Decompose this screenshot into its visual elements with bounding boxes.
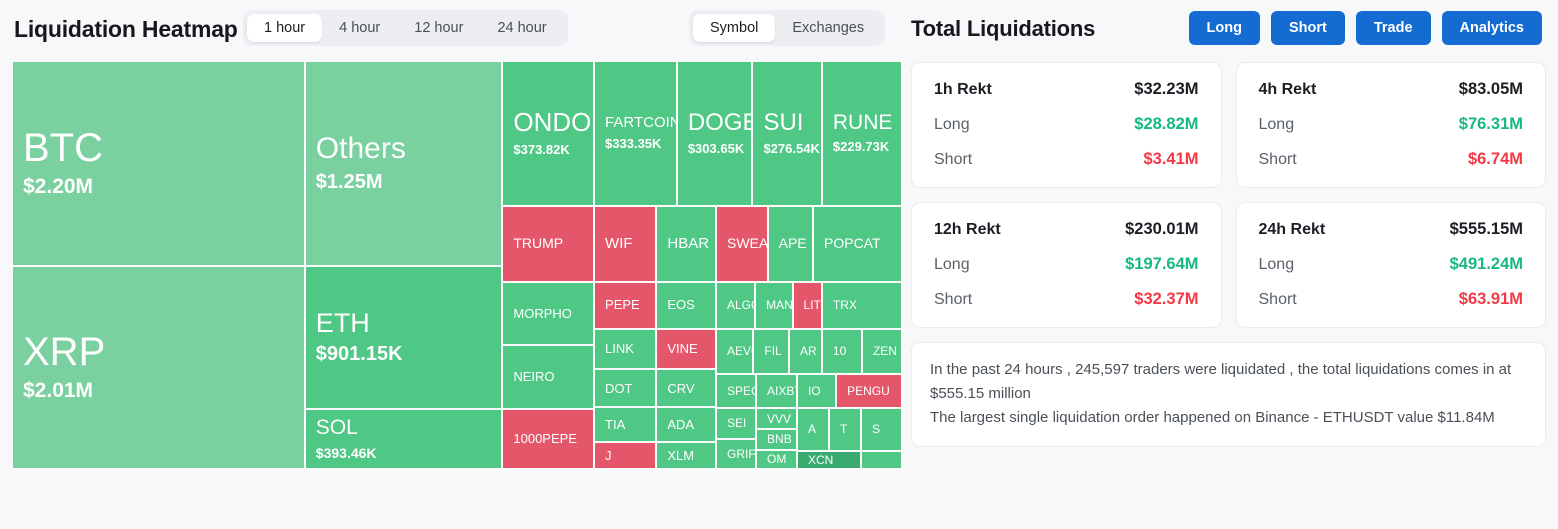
- treemap-tile-fil[interactable]: FIL: [754, 330, 790, 376]
- trade-button[interactable]: Trade: [1356, 11, 1431, 45]
- treemap-tile-bnb[interactable]: BNB: [757, 430, 798, 450]
- rekt-period-label: 12h Rekt: [934, 221, 1001, 239]
- timeframe-option-4-hour[interactable]: 4 hour: [322, 14, 397, 42]
- treemap-tile-ape[interactable]: APE: [769, 207, 814, 283]
- treemap-tile-aixbt[interactable]: AIXBT: [757, 375, 798, 409]
- rekt-long-row: Long$28.82M: [934, 115, 1199, 134]
- treemap-tile-symbol: LIT: [804, 299, 811, 312]
- treemap-tile-symbol: VINE: [667, 342, 705, 356]
- rekt-stat-card: 24h Rekt$555.15MLong$491.24MShort$63.91M: [1236, 202, 1547, 328]
- long-button[interactable]: Long: [1189, 11, 1260, 45]
- treemap-tile-s[interactable]: S: [862, 409, 903, 452]
- treemap-tile-sui[interactable]: SUI$276.54K: [753, 62, 822, 207]
- rekt-long-label: Long: [934, 116, 970, 134]
- rekt-long-value: $197.64M: [1125, 255, 1198, 274]
- treemap-tile-trump[interactable]: TRUMP: [503, 207, 595, 283]
- treemap-tile-symbol: SOL: [316, 417, 492, 439]
- rekt-total-row: 12h Rekt$230.01M: [934, 220, 1199, 239]
- rekt-short-row: Short$63.91M: [1259, 290, 1524, 309]
- treemap-tile-symbol: SWEAT: [727, 236, 757, 251]
- treemap-tile-fartcoin[interactable]: FARTCOIN$333.35K: [595, 62, 678, 207]
- treemap-tile-symbol: VVV: [767, 413, 786, 426]
- rekt-period-label: 4h Rekt: [1259, 81, 1317, 99]
- rekt-total-row: 1h Rekt$32.23M: [934, 80, 1199, 99]
- treemap-tile-symbol: DOGE: [688, 110, 742, 135]
- treemap-tile-xrp[interactable]: XRP$2.01M: [13, 267, 306, 470]
- rekt-total-row: 24h Rekt$555.15M: [1259, 220, 1524, 239]
- rekt-short-label: Short: [934, 291, 972, 309]
- action-button-group: LongShortTradeAnalytics: [1189, 11, 1542, 45]
- treemap-tile[interactable]: [862, 452, 903, 470]
- rekt-short-value: $3.41M: [1143, 150, 1198, 169]
- timeframe-option-label: 1 hour: [264, 20, 305, 36]
- treemap-tile-sweat[interactable]: SWEAT: [717, 207, 769, 283]
- treemap-tile-crv[interactable]: CRV: [657, 370, 717, 408]
- rekt-stat-card: 4h Rekt$83.05MLong$76.31MShort$6.74M: [1236, 62, 1547, 188]
- treemap-tile-sol[interactable]: SOL$393.46K: [306, 410, 504, 470]
- treemap-tile-vine[interactable]: VINE: [657, 330, 717, 371]
- treemap-tile-spec[interactable]: SPEC: [717, 375, 757, 409]
- treemap-tile-dot[interactable]: DOT: [595, 370, 657, 408]
- treemap-tile-symbol: PENGU: [847, 385, 891, 398]
- summary-line-1: In the past 24 hours , 245,597 traders w…: [930, 358, 1527, 406]
- rekt-short-row: Short$6.74M: [1259, 150, 1524, 169]
- treemap-tile-1000pepe[interactable]: 1000PEPE: [503, 410, 595, 470]
- treemap-tile-value: $2.01M: [23, 379, 294, 403]
- analytics-button[interactable]: Analytics: [1442, 11, 1542, 45]
- timeframe-option-label: 24 hour: [497, 20, 546, 36]
- treemap-tile-symbol: APE: [779, 236, 802, 251]
- treemap-tile-symbol: BTC: [23, 127, 294, 169]
- treemap-tile-value: $229.73K: [833, 140, 891, 155]
- rekt-total-value: $555.15M: [1450, 220, 1523, 239]
- treemap-tile-om[interactable]: OM: [757, 451, 798, 470]
- treemap-tile-symbol: SEI: [727, 417, 745, 430]
- treemap-tile-btc[interactable]: BTC$2.20M: [13, 62, 306, 267]
- treemap-tile-symbol: AR: [800, 345, 811, 358]
- treemap-tile-algo[interactable]: ALGO: [717, 283, 756, 330]
- rekt-long-label: Long: [934, 256, 970, 274]
- grouping-option-label: Exchanges: [792, 20, 864, 36]
- rekt-long-row: Long$76.31M: [1259, 115, 1524, 134]
- rekt-long-label: Long: [1259, 116, 1295, 134]
- treemap-tile-symbol: PEPE: [605, 298, 645, 312]
- treemap-tile-symbol: SPEC: [727, 385, 745, 398]
- treemap-tile-symbol: FARTCOIN: [605, 115, 666, 131]
- rekt-long-row: Long$491.24M: [1259, 255, 1524, 274]
- treemap-tile-j[interactable]: J: [595, 443, 657, 470]
- treemap-tile-symbol: 10: [833, 345, 851, 358]
- treemap-tile-symbol: AEVO: [727, 345, 742, 358]
- summary-line-2: The largest single liquidation order hap…: [930, 406, 1527, 430]
- treemap-tile-griffain[interactable]: GRIFFAIN: [717, 440, 757, 470]
- timeframe-option-1-hour[interactable]: 1 hour: [247, 14, 322, 42]
- treemap-tile-symbol: MORPHO: [513, 307, 583, 321]
- rekt-long-value: $76.31M: [1459, 115, 1523, 134]
- treemap-tile-symbol: EOS: [667, 298, 705, 312]
- rekt-long-label: Long: [1259, 256, 1295, 274]
- treemap-tile-value: $1.25M: [316, 171, 492, 194]
- treemap-tile-eth[interactable]: ETH$901.15K: [306, 267, 504, 410]
- grouping-option-label: Symbol: [710, 20, 758, 36]
- rekt-long-value: $491.24M: [1450, 255, 1523, 274]
- treemap-tile-symbol: SUI: [763, 110, 810, 135]
- treemap-tile-popcat[interactable]: POPCAT: [814, 207, 903, 283]
- treemap-tile-morpho[interactable]: MORPHO: [503, 283, 595, 347]
- treemap-tile-10[interactable]: 10: [823, 330, 863, 376]
- short-button[interactable]: Short: [1271, 11, 1345, 45]
- summary-panel: In the past 24 hours , 245,597 traders w…: [911, 342, 1546, 447]
- timeframe-segmented-control[interactable]: 1 hour4 hour12 hour24 hour: [243, 10, 568, 46]
- treemap-tile-io[interactable]: IO: [798, 375, 837, 409]
- treemap-tile-value: $276.54K: [763, 142, 810, 157]
- treemap-tile-t[interactable]: T: [830, 409, 862, 452]
- treemap-tile-xlm[interactable]: XLM: [657, 443, 717, 470]
- rekt-short-row: Short$3.41M: [934, 150, 1199, 169]
- treemap-tile-symbol: RUNE: [833, 112, 891, 134]
- treemap-tile-symbol: T: [840, 423, 850, 436]
- timeframe-option-24-hour[interactable]: 24 hour: [480, 14, 563, 42]
- treemap-tile-symbol: XCN: [808, 454, 850, 467]
- treemap-tile-symbol: AIXBT: [767, 385, 786, 398]
- treemap-tile-hbar[interactable]: HBAR: [657, 207, 717, 283]
- treemap-tile-symbol: WIF: [605, 236, 645, 252]
- treemap-tile-zen[interactable]: ZEN: [863, 330, 903, 376]
- treemap-tile-value: $303.65K: [688, 142, 742, 157]
- timeframe-option-12-hour[interactable]: 12 hour: [397, 14, 480, 42]
- treemap-tile-value: $373.82K: [513, 143, 583, 158]
- stats-panel: 1h Rekt$32.23MLong$28.82MShort$3.41M4h R…: [911, 62, 1546, 447]
- treemap-tile-symbol: BNB: [767, 433, 786, 446]
- treemap-tile-symbol: 1000PEPE: [513, 432, 583, 446]
- top-toolbar: Liquidation Heatmap 1 hour4 hour12 hour2…: [0, 0, 1558, 58]
- treemap-tile-symbol: OM: [767, 453, 786, 466]
- rekt-period-label: 24h Rekt: [1259, 221, 1326, 239]
- treemap-tile-aevo[interactable]: AEVO: [717, 330, 754, 376]
- rekt-short-label: Short: [1259, 291, 1297, 309]
- treemap-tile-symbol: CRV: [667, 382, 705, 396]
- rekt-short-value: $63.91M: [1459, 290, 1523, 309]
- rekt-total-value: $32.23M: [1134, 80, 1198, 99]
- treemap-tile-symbol: XRP: [23, 331, 294, 373]
- rekt-total-row: 4h Rekt$83.05M: [1259, 80, 1524, 99]
- grouping-option-symbol[interactable]: Symbol: [693, 14, 775, 42]
- treemap-tile-symbol: LINK: [605, 342, 645, 356]
- rekt-stat-card: 12h Rekt$230.01MLong$197.64MShort$32.37M: [911, 202, 1222, 328]
- treemap-tile-pepe[interactable]: PEPE: [595, 283, 657, 330]
- treemap-tile-symbol: ETH: [316, 309, 492, 337]
- timeframe-option-label: 4 hour: [339, 20, 380, 36]
- liquidation-treemap[interactable]: BTC$2.20MXRP$2.01MOthers$1.25METH$901.15…: [13, 62, 903, 470]
- rekt-short-value: $32.37M: [1134, 290, 1198, 309]
- treemap-tile-ar[interactable]: AR: [790, 330, 823, 376]
- treemap-tile-value: $2.20M: [23, 175, 294, 199]
- page-title: Liquidation Heatmap: [14, 16, 238, 43]
- rekt-long-row: Long$197.64M: [934, 255, 1199, 274]
- treemap-tile-wif[interactable]: WIF: [595, 207, 657, 283]
- treemap-tile-tia[interactable]: TIA: [595, 408, 657, 443]
- treemap-tile-sei[interactable]: SEI: [717, 409, 757, 440]
- rekt-stat-card: 1h Rekt$32.23MLong$28.82MShort$3.41M: [911, 62, 1222, 188]
- treemap-tile-rune[interactable]: RUNE$229.73K: [823, 62, 903, 207]
- treemap-tile-symbol: FIL: [764, 345, 778, 358]
- treemap-tile-mana[interactable]: MANA: [756, 283, 793, 330]
- rekt-short-value: $6.74M: [1468, 150, 1523, 169]
- treemap-tile-symbol: XLM: [667, 449, 705, 463]
- treemap-tile-pengu[interactable]: PENGU: [837, 375, 903, 409]
- treemap-tile-symbol: ZEN: [873, 345, 891, 358]
- treemap-tile-symbol: ALGO: [727, 299, 744, 312]
- treemap-tile-others[interactable]: Others$1.25M: [306, 62, 504, 267]
- liquidation-heatmap-page: Liquidation Heatmap 1 hour4 hour12 hour2…: [0, 0, 1558, 529]
- treemap-tile-ada[interactable]: ADA: [657, 408, 717, 443]
- treemap-tile-symbol: DOT: [605, 382, 645, 396]
- rekt-short-label: Short: [1259, 151, 1297, 169]
- treemap-tile-neiro[interactable]: NEIRO: [503, 346, 595, 410]
- treemap-tile-symbol: ADA: [667, 418, 705, 432]
- treemap-tile-value: $901.15K: [316, 343, 492, 366]
- rekt-short-label: Short: [934, 151, 972, 169]
- rekt-total-value: $230.01M: [1125, 220, 1198, 239]
- treemap-tile-xcn[interactable]: XCN: [798, 452, 862, 470]
- treemap-tile-doge[interactable]: DOGE$303.65K: [678, 62, 754, 207]
- treemap-tile-symbol: S: [872, 423, 891, 436]
- treemap-tile-symbol: GRIFFAIN: [727, 448, 745, 461]
- treemap-tile-symbol: HBAR: [667, 236, 705, 252]
- rekt-period-label: 1h Rekt: [934, 81, 992, 99]
- treemap-tile-symbol: IO: [808, 385, 825, 398]
- treemap-tile-symbol: ONDO: [513, 109, 583, 136]
- treemap-tile-symbol: NEIRO: [513, 370, 583, 384]
- treemap-tile-symbol: J: [605, 449, 645, 463]
- treemap-tile-symbol: Others: [316, 133, 492, 165]
- treemap-tile-symbol: TIA: [605, 418, 645, 432]
- treemap-tile-value: $333.35K: [605, 137, 666, 152]
- rekt-long-value: $28.82M: [1134, 115, 1198, 134]
- treemap-tile-symbol: POPCAT: [824, 236, 891, 251]
- grouping-option-exchanges[interactable]: Exchanges: [775, 14, 881, 42]
- rekt-short-row: Short$32.37M: [934, 290, 1199, 309]
- treemap-tile-link[interactable]: LINK: [595, 330, 657, 371]
- treemap-tile-eos[interactable]: EOS: [657, 283, 717, 330]
- treemap-tile-trx[interactable]: TRX: [823, 283, 903, 330]
- treemap-tile-symbol: TRUMP: [513, 236, 583, 251]
- rekt-total-value: $83.05M: [1459, 80, 1523, 99]
- grouping-segmented-control[interactable]: SymbolExchanges: [689, 10, 885, 46]
- treemap-tile-symbol: MANA: [766, 299, 781, 312]
- rekt-stat-card-grid: 1h Rekt$32.23MLong$28.82MShort$3.41M4h R…: [911, 62, 1546, 328]
- timeframe-option-label: 12 hour: [414, 20, 463, 36]
- treemap-tile-vvv[interactable]: VVV: [757, 409, 798, 430]
- treemap-tile-a[interactable]: A: [798, 409, 830, 452]
- treemap-tile-symbol: TRX: [833, 299, 891, 312]
- treemap-tile-lit[interactable]: LIT: [794, 283, 823, 330]
- total-liquidations-title: Total Liquidations: [911, 16, 1095, 42]
- treemap-tile-value: $393.46K: [316, 445, 492, 461]
- treemap-tile-ondo[interactable]: ONDO$373.82K: [503, 62, 595, 207]
- treemap-tile-symbol: A: [808, 423, 818, 436]
